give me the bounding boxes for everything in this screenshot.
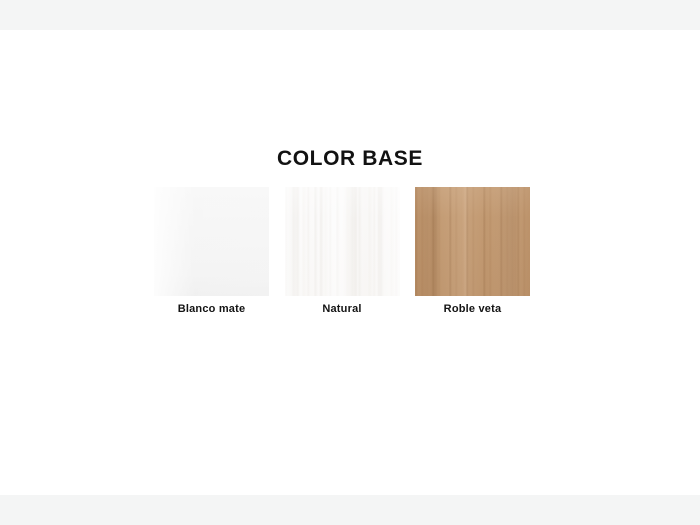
content-canvas: COLOR BASE Blanco mate Natural Roble vet…	[0, 30, 700, 495]
swatch-tile-blanco-mate[interactable]	[154, 187, 269, 296]
letterbox-band-top	[0, 0, 700, 30]
swatch-tile-natural[interactable]	[285, 187, 400, 296]
letterbox-band-bottom	[0, 495, 700, 525]
swatch-item-natural[interactable]: Natural	[285, 187, 400, 316]
swatch-item-roble-veta[interactable]: Roble veta	[415, 187, 530, 316]
page-title: COLOR BASE	[0, 148, 700, 169]
swatch-label-blanco-mate: Blanco mate	[178, 303, 246, 316]
screenshot-stage: COLOR BASE Blanco mate Natural Roble vet…	[0, 0, 700, 525]
swatch-tile-roble-veta[interactable]	[415, 187, 530, 296]
swatch-label-roble-veta: Roble veta	[444, 303, 502, 316]
color-swatch-row: Blanco mate Natural Roble veta	[154, 187, 530, 332]
swatch-label-natural: Natural	[322, 303, 361, 316]
swatch-item-blanco-mate[interactable]: Blanco mate	[154, 187, 269, 316]
